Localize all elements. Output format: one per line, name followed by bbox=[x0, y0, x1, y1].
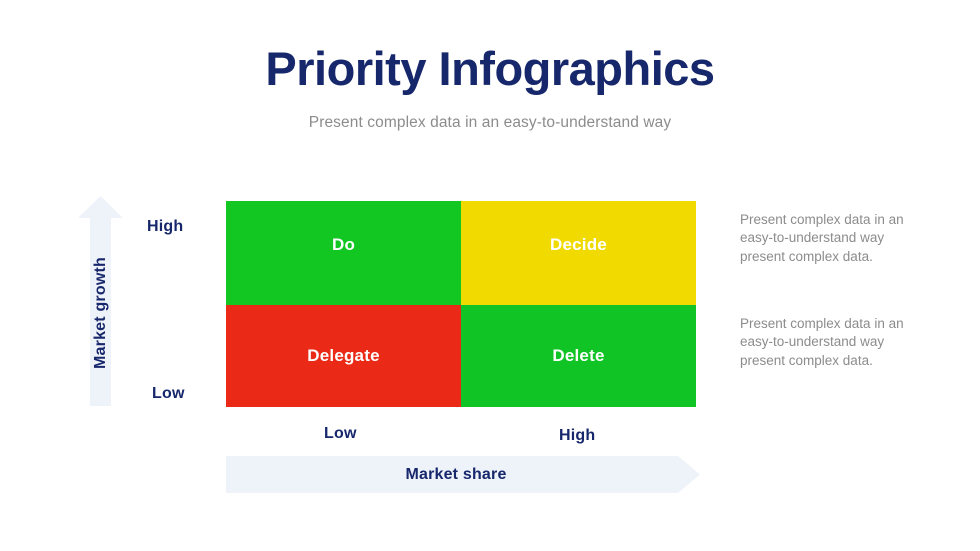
y-axis-tick-high: High bbox=[147, 218, 183, 236]
quadrant-delete[interactable]: Delete bbox=[461, 305, 696, 407]
y-axis-tick-low: Low bbox=[152, 385, 185, 403]
quadrant-delegate[interactable]: Delegate bbox=[226, 305, 461, 407]
quadrant-decide[interactable]: Decide bbox=[461, 201, 696, 305]
market-share-arrow-icon bbox=[226, 456, 700, 493]
market-growth-arrow-icon bbox=[78, 196, 123, 406]
priority-matrix: Do Decide Delegate Delete bbox=[226, 201, 696, 407]
quadrant-do[interactable]: Do bbox=[226, 201, 461, 305]
x-axis-tick-low: Low bbox=[324, 425, 357, 443]
page-title: Priority Infographics bbox=[0, 44, 980, 93]
side-note-bottom: Present complex data in an easy-to-under… bbox=[740, 315, 916, 370]
quadrant-decide-label: Decide bbox=[550, 235, 607, 255]
quadrant-delete-label: Delete bbox=[552, 346, 604, 366]
side-note-top: Present complex data in an easy-to-under… bbox=[740, 211, 916, 266]
quadrant-delegate-label: Delegate bbox=[307, 346, 379, 366]
x-axis-tick-high: High bbox=[559, 427, 595, 445]
page-subtitle: Present complex data in an easy-to-under… bbox=[0, 114, 980, 132]
slide-canvas: Priority Infographics Present complex da… bbox=[0, 0, 980, 551]
quadrant-do-label: Do bbox=[332, 235, 355, 255]
